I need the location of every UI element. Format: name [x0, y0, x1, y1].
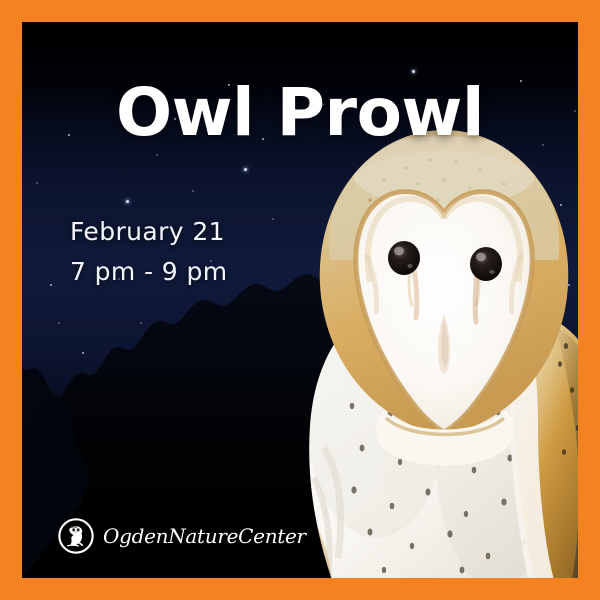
organization-logo: OgdenNatureCenter [58, 518, 306, 554]
poster: Owl Prowl February 21 7 pm - 9 pm [0, 0, 600, 600]
owl-eye-left [388, 241, 420, 275]
event-date: February 21 [70, 212, 227, 252]
event-details: February 21 7 pm - 9 pm [70, 212, 227, 292]
poster-stage: Owl Prowl February 21 7 pm - 9 pm [22, 22, 578, 578]
page-title: Owl Prowl [22, 78, 578, 147]
owl-badge-icon [58, 518, 94, 554]
owl-eye-right [470, 247, 502, 281]
organization-name: OgdenNatureCenter [103, 524, 306, 548]
event-time: 7 pm - 9 pm [70, 252, 227, 292]
barn-owl-image [266, 118, 578, 578]
